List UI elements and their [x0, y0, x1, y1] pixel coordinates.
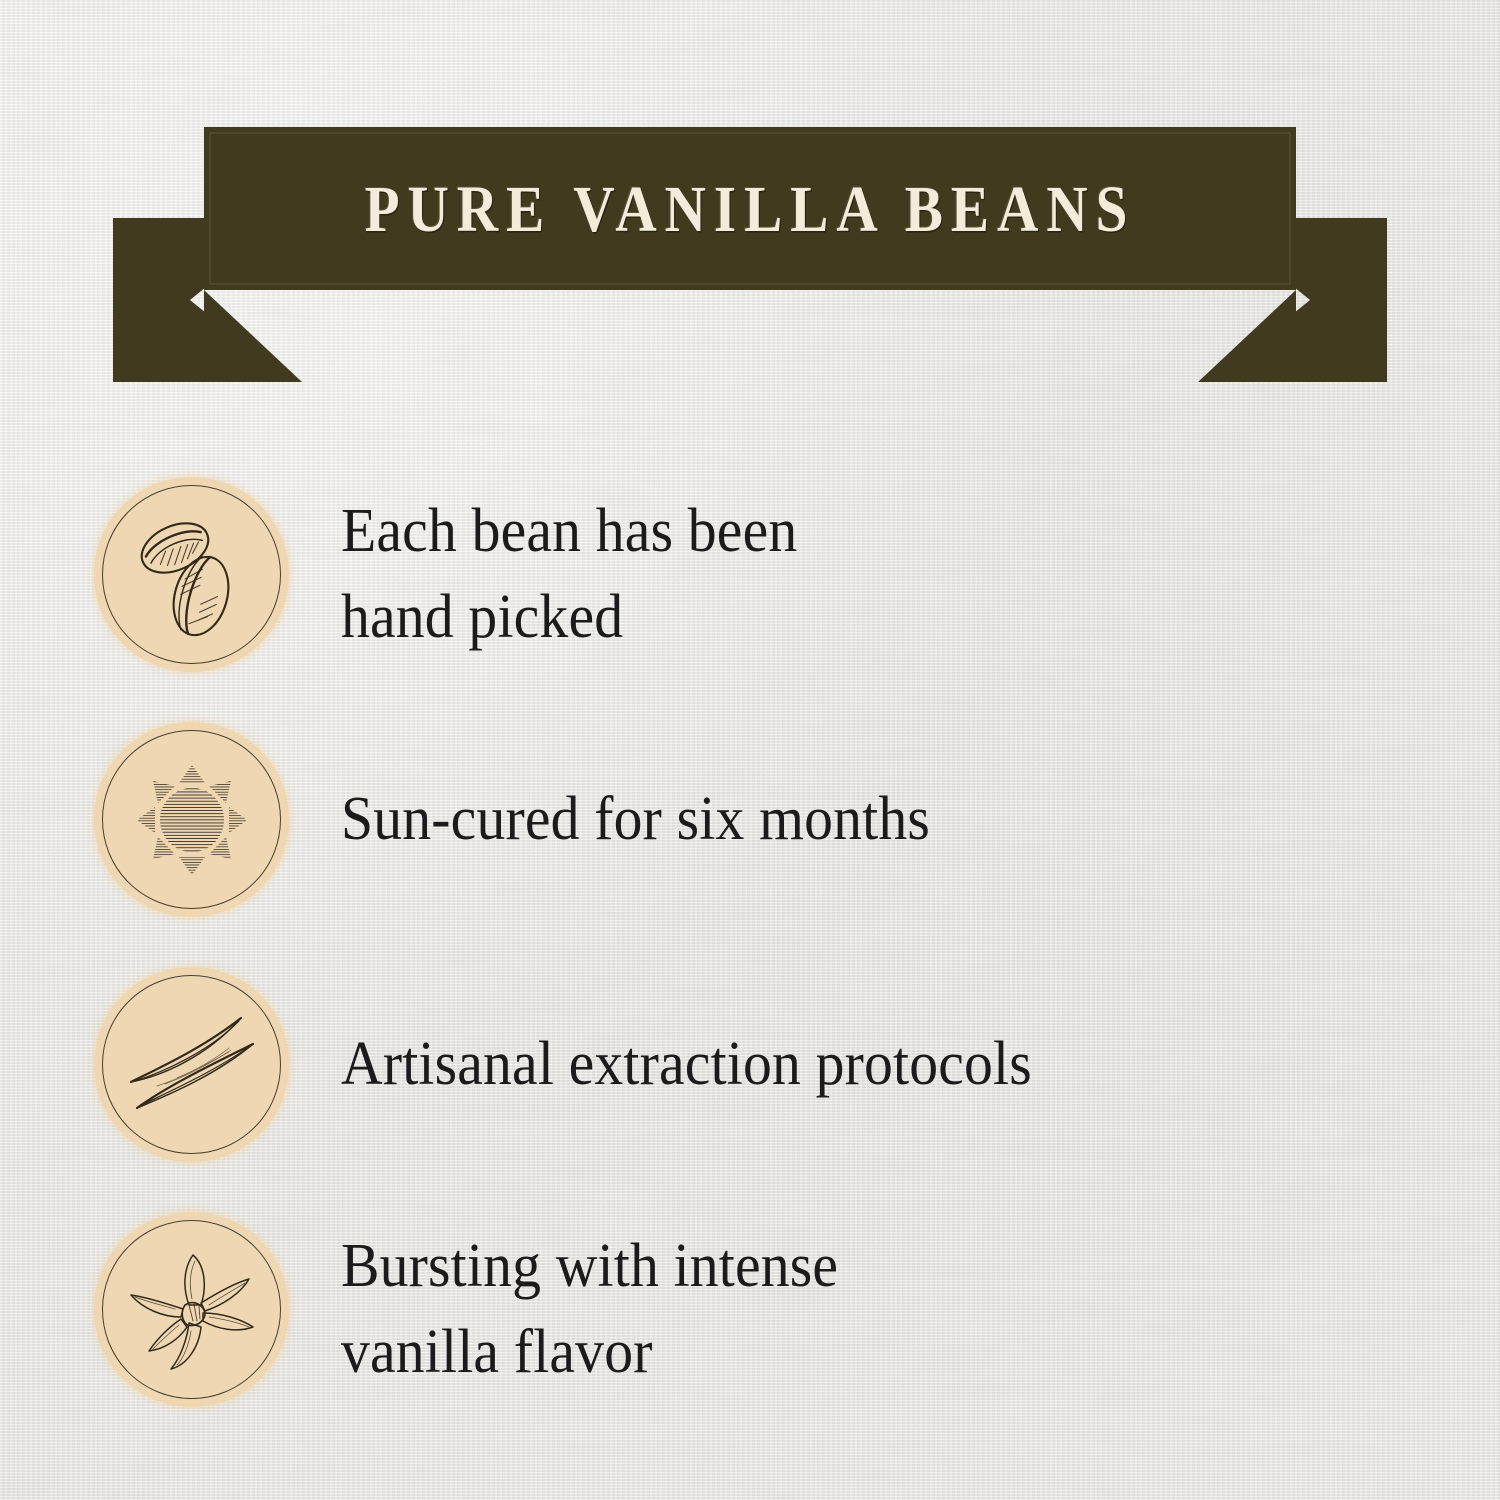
feature-label: Each bean has been hand picked: [341, 489, 797, 660]
feature-row: Bursting with intense vanilla flavor: [0, 1187, 1500, 1432]
feature-line: hand picked: [341, 575, 797, 661]
sun-glyph: [117, 745, 267, 895]
feature-line: Each bean has been: [341, 489, 797, 575]
coffee-beans-glyph: [117, 500, 267, 650]
feature-row: Each bean has been hand picked: [0, 452, 1500, 697]
coffee-beans-icon: [95, 478, 288, 671]
feature-line: Bursting with intense: [341, 1224, 838, 1310]
feature-label: Bursting with intense vanilla flavor: [341, 1224, 838, 1395]
feature-label: Sun-cured for six months: [341, 777, 930, 863]
feature-row: Sun-cured for six months: [0, 697, 1500, 942]
vanilla-flower-glyph: [117, 1235, 267, 1385]
vanilla-pods-icon: [95, 968, 288, 1161]
feature-line: Artisanal extraction protocols: [341, 1022, 1032, 1108]
banner-title: PURE VANILLA BEANS: [171, 109, 1329, 308]
sun-icon: [95, 723, 288, 916]
vanilla-pods-glyph: [117, 990, 267, 1140]
feature-row: Artisanal extraction protocols: [0, 942, 1500, 1187]
vanilla-flower-icon: [95, 1213, 288, 1406]
feature-label: Artisanal extraction protocols: [341, 1022, 1032, 1108]
feature-line: vanilla flavor: [341, 1310, 838, 1396]
banner: PURE VANILLA BEANS: [0, 0, 1500, 420]
feature-list: Each bean has been hand picked: [0, 452, 1500, 1432]
feature-line: Sun-cured for six months: [341, 777, 930, 863]
